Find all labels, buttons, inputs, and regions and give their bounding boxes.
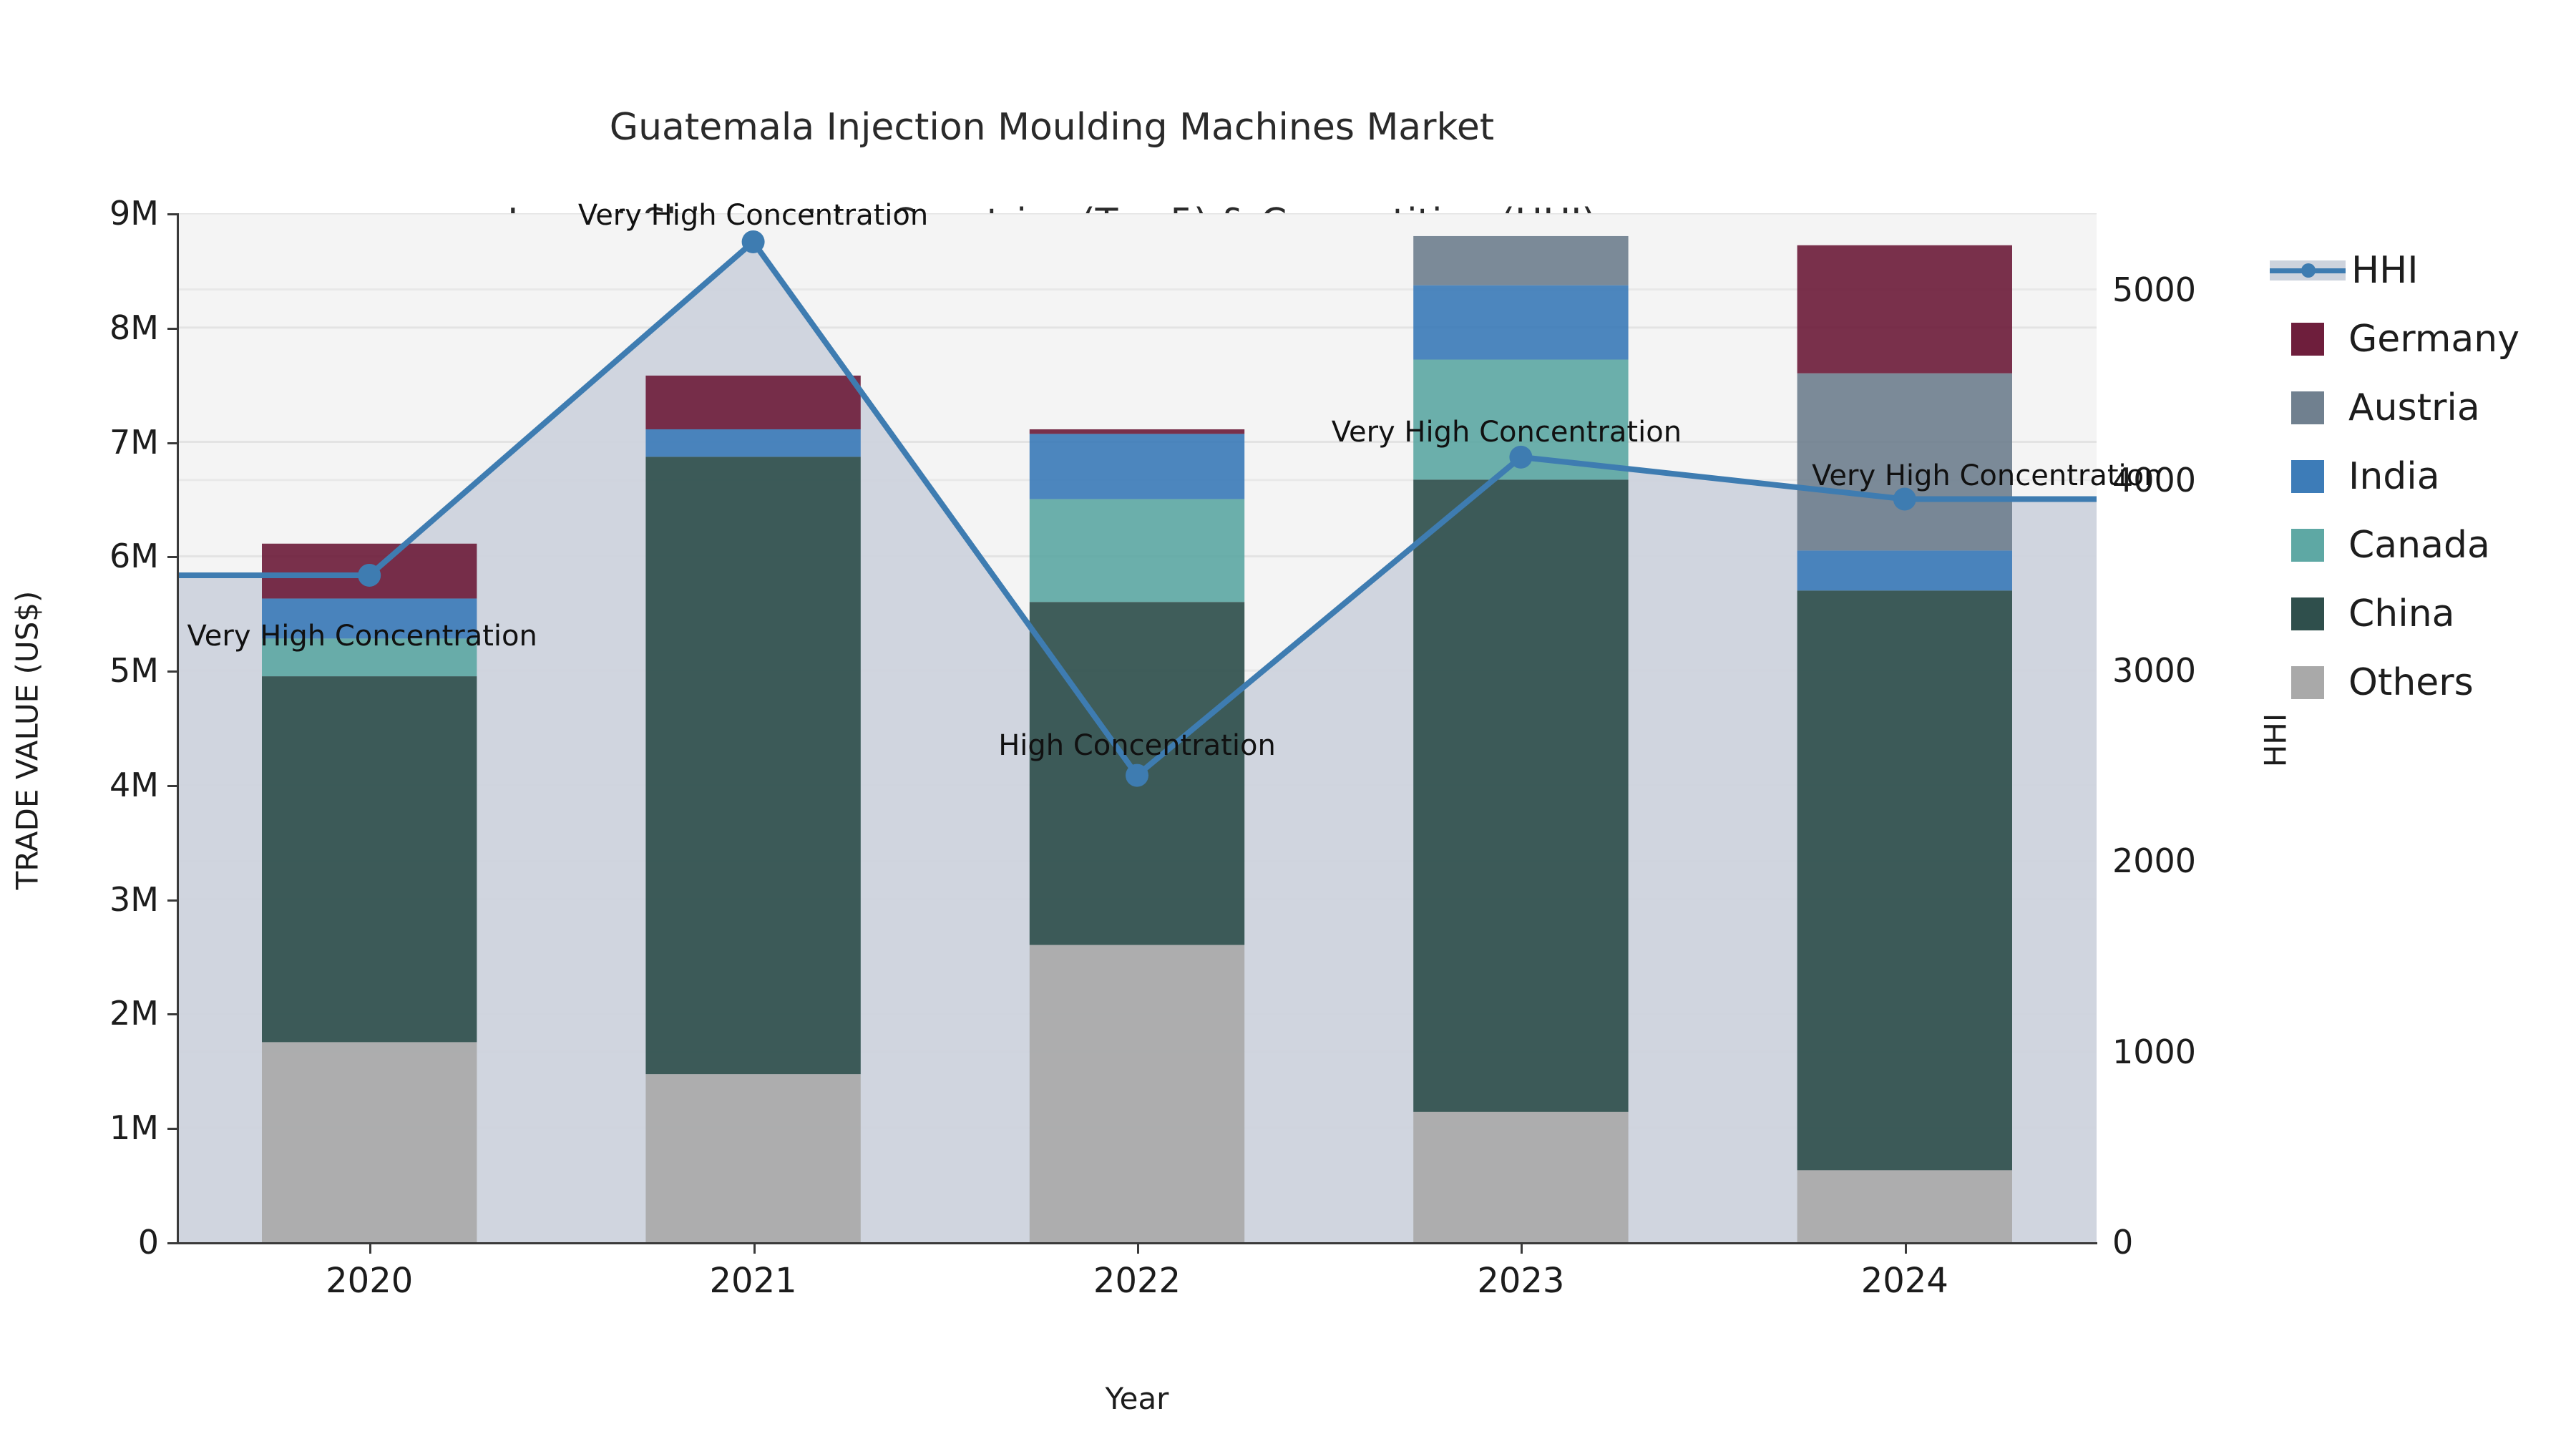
plot-data-layer <box>177 213 2097 1242</box>
bar-segment <box>1797 590 2012 1170</box>
bar-segment <box>1030 945 1244 1242</box>
x-axis-tick-label: 2022 <box>1030 1261 1244 1301</box>
concentration-annotation: Very High Concentration <box>578 199 928 232</box>
y-axis-left-tick-mark <box>167 556 177 558</box>
y-axis-left-tick-mark <box>167 213 177 215</box>
bar-segment <box>645 457 860 1074</box>
x-axis-tick-mark <box>753 1244 756 1254</box>
y-axis-right-tick-label: 0 <box>2112 1223 2270 1262</box>
y-axis-left-tick-label: 8M <box>30 308 159 347</box>
y-axis-left-tick-mark <box>167 328 177 330</box>
y-axis-left-tick-mark <box>167 785 177 787</box>
concentration-annotation: Very High Concentration <box>1812 459 2162 492</box>
legend-item-hhi[interactable]: HHI <box>2270 236 2519 305</box>
x-axis-tick-mark <box>1905 1244 1907 1254</box>
y-axis-left-tick-label: 9M <box>30 194 159 233</box>
legend-swatch-germany-icon <box>2291 323 2324 356</box>
bar-segment <box>1413 479 1628 1112</box>
y-axis-left-tick-label: 6M <box>30 537 159 575</box>
hhi-marker <box>1126 764 1148 787</box>
y-axis-left-tick-label: 2M <box>30 994 159 1033</box>
hhi-marker <box>358 564 381 587</box>
chart-root: Guatemala Injection Moulding Machines Ma… <box>0 0 2576 1449</box>
x-axis-tick-mark <box>1521 1244 1523 1254</box>
y-axis-left-tick-label: 3M <box>30 880 159 919</box>
legend-swatch-austria-icon <box>2291 391 2324 424</box>
concentration-annotation: Very High Concentration <box>187 620 537 653</box>
hhi-marker <box>742 230 765 253</box>
bar-segment <box>645 376 860 429</box>
y-axis-left-tick-label: 1M <box>30 1108 159 1147</box>
legend-item-india[interactable]: India <box>2270 442 2519 511</box>
bar-segment <box>645 429 860 457</box>
x-axis-tick-label: 2024 <box>1797 1261 2012 1301</box>
x-axis-tick-label: 2020 <box>262 1261 477 1301</box>
legend-item-china[interactable]: China <box>2270 580 2519 648</box>
x-axis-tick-label: 2023 <box>1413 1261 1628 1301</box>
plot-area <box>177 213 2097 1242</box>
hhi-marker <box>1509 446 1532 469</box>
legend-label: China <box>2348 592 2455 635</box>
y-axis-left-tick-mark <box>167 442 177 444</box>
x-axis-tick-mark <box>369 1244 371 1254</box>
legend-swatch-others-icon <box>2291 666 2324 699</box>
legend-line-icon <box>2270 254 2346 287</box>
legend-item-austria[interactable]: Austria <box>2270 374 2519 442</box>
y-axis-right-tick-label: 5000 <box>2112 270 2270 309</box>
legend-item-germany[interactable]: Germany <box>2270 305 2519 374</box>
x-axis-label: Year <box>177 1381 2097 1416</box>
y-axis-left-tick-mark <box>167 670 177 673</box>
legend-item-others[interactable]: Others <box>2270 648 2519 717</box>
bar-segment <box>262 676 477 1042</box>
bar-segment <box>1030 429 1244 434</box>
y-axis-left-tick-mark <box>167 899 177 902</box>
bar-segment <box>1413 1112 1628 1242</box>
legend-label: Canada <box>2348 524 2490 567</box>
y-axis-right-tick-label: 1000 <box>2112 1033 2270 1071</box>
legend-label: HHI <box>2351 249 2419 292</box>
bar-segment <box>262 1042 477 1242</box>
legend-swatch-china-icon <box>2291 597 2324 630</box>
bar-segment <box>1797 1170 2012 1242</box>
legend-label: Germany <box>2348 318 2519 361</box>
bar-segment <box>1413 286 1628 360</box>
y-axis-right-tick-label: 2000 <box>2112 841 2270 880</box>
bar-segment <box>1030 434 1244 499</box>
bar-segment <box>1797 550 2012 590</box>
concentration-annotation: High Concentration <box>998 729 1276 762</box>
y-axis-left-tick-mark <box>167 1242 177 1244</box>
legend-item-canada[interactable]: Canada <box>2270 511 2519 580</box>
y-axis-right-tick-label: 3000 <box>2112 651 2270 690</box>
bar-segment <box>1797 245 2012 374</box>
y-axis-left-tick-label: 7M <box>30 423 159 462</box>
concentration-annotation: Very High Concentration <box>1332 416 1682 449</box>
y-axis-left-tick-label: 0 <box>30 1223 159 1262</box>
legend-label: Austria <box>2348 386 2480 429</box>
chart-title-line-1: Guatemala Injection Moulding Machines Ma… <box>0 104 2104 152</box>
y-axis-left-tick-label: 4M <box>30 766 159 804</box>
bar-segment <box>1030 499 1244 602</box>
chart-legend: HHIGermanyAustriaIndiaCanadaChinaOthers <box>2270 236 2519 717</box>
y-axis-left-tick-mark <box>167 1128 177 1130</box>
y-axis-left-tick-mark <box>167 1013 177 1015</box>
legend-swatch-india-icon <box>2291 460 2324 493</box>
bar-segment <box>645 1074 860 1242</box>
bar-segment <box>1413 236 1628 286</box>
legend-label: India <box>2348 455 2440 498</box>
y-axis-left-label: TRADE VALUE (US$) <box>10 440 45 1041</box>
legend-swatch-canada-icon <box>2291 529 2324 562</box>
legend-label: Others <box>2348 661 2474 704</box>
y-axis-left-tick-label: 5M <box>30 651 159 690</box>
y-axis-left-line <box>177 213 179 1244</box>
x-axis-tick-label: 2021 <box>646 1261 861 1301</box>
x-axis-tick-mark <box>1137 1244 1139 1254</box>
